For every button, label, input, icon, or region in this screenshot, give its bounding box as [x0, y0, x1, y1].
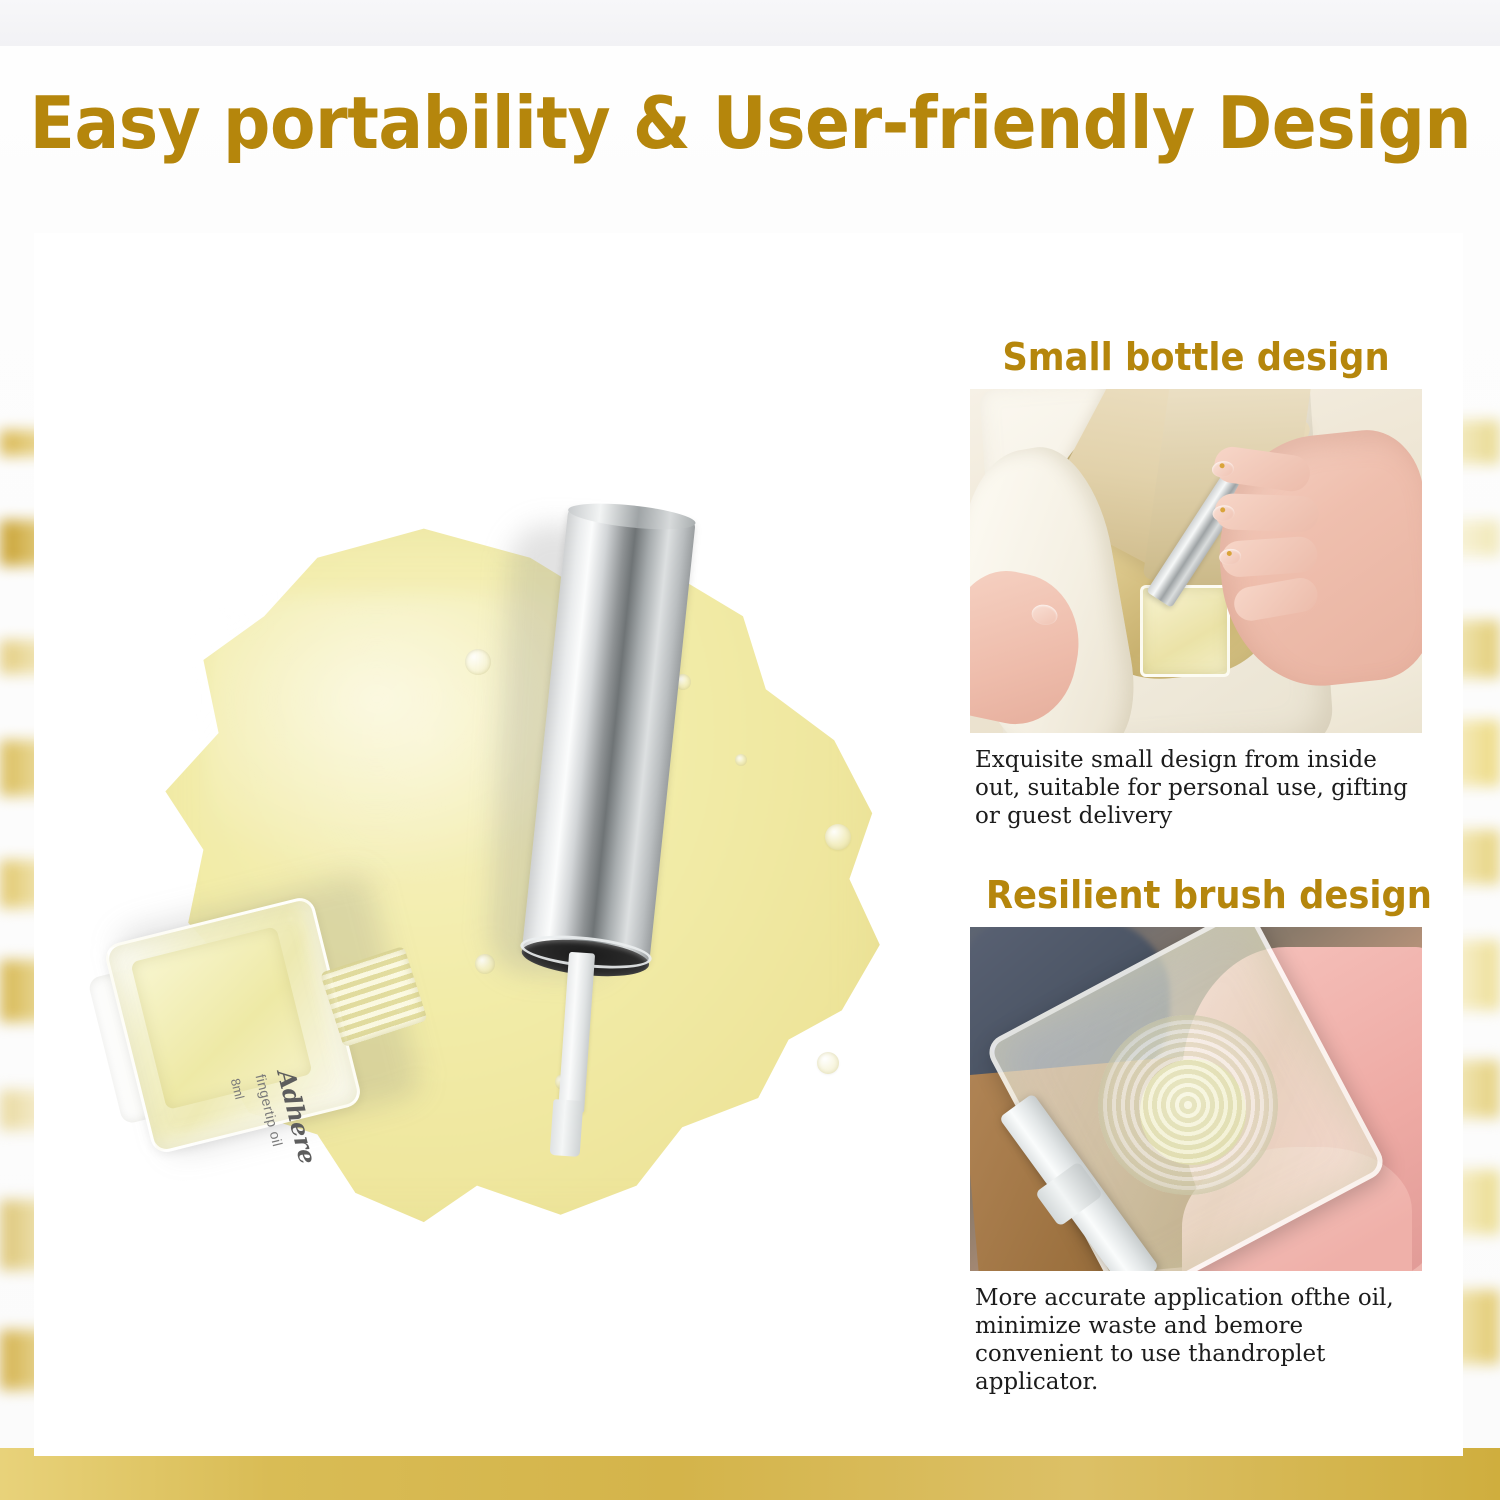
feature-heading: Resilient brush design	[986, 872, 1406, 918]
feature-caption: Exquisite small design from inside out, …	[970, 746, 1422, 830]
brush-tip	[550, 1099, 584, 1157]
content-card: Adhere fingertip oil 8ml Small bottle de…	[35, 234, 1462, 1455]
page-root: Easy portability & User-friendly Design	[0, 0, 1500, 1500]
oil-droplet	[817, 1052, 839, 1074]
page-title-area: Easy portability & User-friendly Design	[0, 78, 1500, 168]
oil-bubble	[735, 754, 747, 766]
page-title: Easy portability & User-friendly Design	[29, 81, 1470, 165]
feature-block-resilient-brush: Resilient brush design More accurate app…	[970, 872, 1422, 1396]
feature-photo-small-bottle	[970, 389, 1422, 733]
feature-block-small-bottle: Small bottle design	[970, 334, 1422, 830]
feature-heading: Small bottle design	[986, 334, 1406, 380]
oil-bubble	[465, 649, 491, 675]
feature-caption: More accurate application ofthe oil, min…	[970, 1284, 1422, 1396]
photo-bottle	[1140, 585, 1230, 677]
oil-droplet	[825, 824, 851, 850]
feature-column: Small bottle design	[970, 334, 1422, 1396]
top-gradient-band	[0, 0, 1500, 46]
hero-product-image: Adhere fingertip oil 8ml	[35, 234, 965, 1455]
bottom-gold-band	[0, 1448, 1500, 1500]
feature-photo-brush	[970, 927, 1422, 1271]
